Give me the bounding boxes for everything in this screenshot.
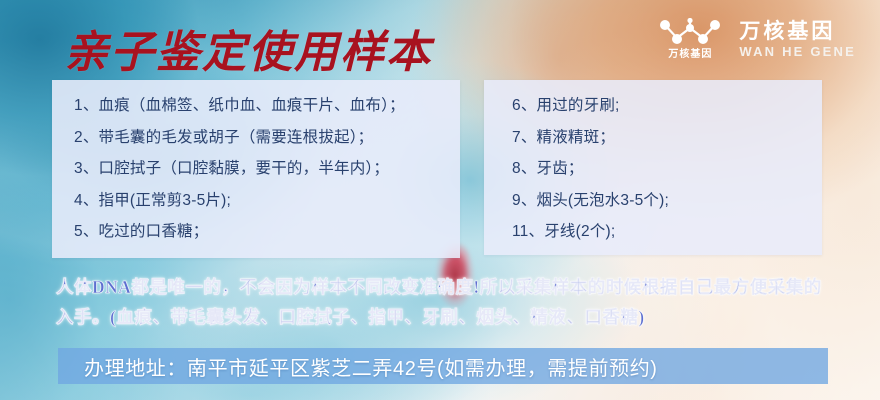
list-item: 7、精液精斑； [512, 130, 822, 146]
sample-list-right: 6、用过的牙刷; 7、精液精斑； 8、牙齿； 9、烟头(无泡水3-5个); 11… [484, 80, 822, 240]
address-banner-text: 办理地址：南平市延平区紫芝二弄42号(如需办理，需提前预约) [58, 352, 658, 381]
explanatory-note: 人体DNA都是唯一的，不会因为样本不同改变准确度!所以采集样本的时候根据自己最方… [56, 272, 832, 332]
brand-wordmark: 万核基因 WAN HE GENE [739, 21, 856, 58]
poster-root: 亲子鉴定使用样本 [0, 0, 880, 400]
dna-molecule-icon [659, 18, 721, 48]
list-item: 3、口腔拭子（口腔黏膜，要干的，半年内）； [74, 161, 460, 177]
brand-name-cn: 万核基因 [739, 21, 835, 42]
list-item: 9、烟头(无泡水3-5个); [512, 193, 822, 209]
list-item: 11、牙线(2个); [512, 224, 822, 240]
brand-mark: 万核基因 [659, 18, 721, 60]
brand-mark-label: 万核基因 [668, 50, 712, 60]
sample-card-right: 6、用过的牙刷; 7、精液精斑； 8、牙齿； 9、烟头(无泡水3-5个); 11… [484, 80, 822, 255]
address-banner: 办理地址：南平市延平区紫芝二弄42号(如需办理，需提前预约) [58, 348, 828, 384]
list-item: 1、血痕（血棉签、纸巾血、血痕干片、血布）； [74, 98, 460, 114]
list-item: 6、用过的牙刷; [512, 98, 822, 114]
sample-card-left: 1、血痕（血棉签、纸巾血、血痕干片、血布）； 2、带毛囊的毛发或胡子（需要连根拔… [52, 80, 460, 258]
sample-list-left: 1、血痕（血棉签、纸巾血、血痕干片、血布）； 2、带毛囊的毛发或胡子（需要连根拔… [52, 80, 460, 240]
brand-name-en: WAN HE GENE [739, 45, 856, 58]
list-item: 5、吃过的口香糖； [74, 224, 460, 240]
brand-logo: 万核基因 万核基因 WAN HE GENE [659, 18, 856, 60]
list-item: 8、牙齿； [512, 161, 822, 177]
page-title: 亲子鉴定使用样本 [64, 16, 432, 80]
list-item: 2、带毛囊的毛发或胡子（需要连根拔起）； [74, 130, 460, 146]
list-item: 4、指甲(正常剪3-5片); [74, 193, 460, 209]
